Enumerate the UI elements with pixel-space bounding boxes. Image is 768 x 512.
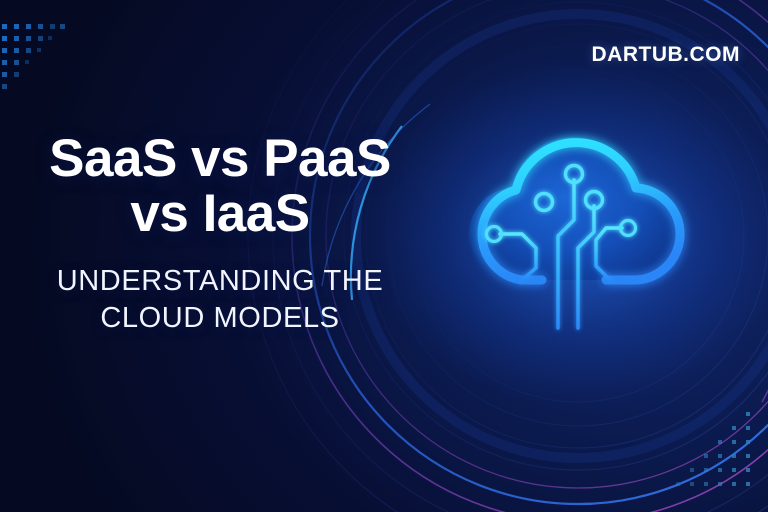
circuit-traces-fade	[544, 280, 578, 342]
dot-grid-bottom-right	[650, 398, 758, 494]
subtitle-line-2: CLOUD MODELS	[0, 300, 440, 337]
cloud-circuit-icon	[446, 128, 710, 344]
poster-canvas: DARTUB.COM SaaS vs PaaS vs IaaS UNDERSTA…	[0, 0, 768, 512]
title-line-2: vs IaaS	[0, 187, 440, 242]
brand-logo: DARTUB.COM	[592, 43, 740, 67]
page-subtitle: UNDERSTANDING THE CLOUD MODELS	[0, 263, 440, 337]
subtitle-line-1: UNDERSTANDING THE	[57, 265, 384, 297]
dot-grid-top-left	[0, 10, 80, 90]
page-title: SaaS vs PaaS vs IaaS	[0, 132, 440, 241]
hero-text-block: SaaS vs PaaS vs IaaS UNDERSTANDING THE C…	[0, 132, 440, 337]
cloud-icon-svg	[446, 128, 710, 344]
title-line-1: SaaS vs PaaS	[49, 129, 391, 188]
